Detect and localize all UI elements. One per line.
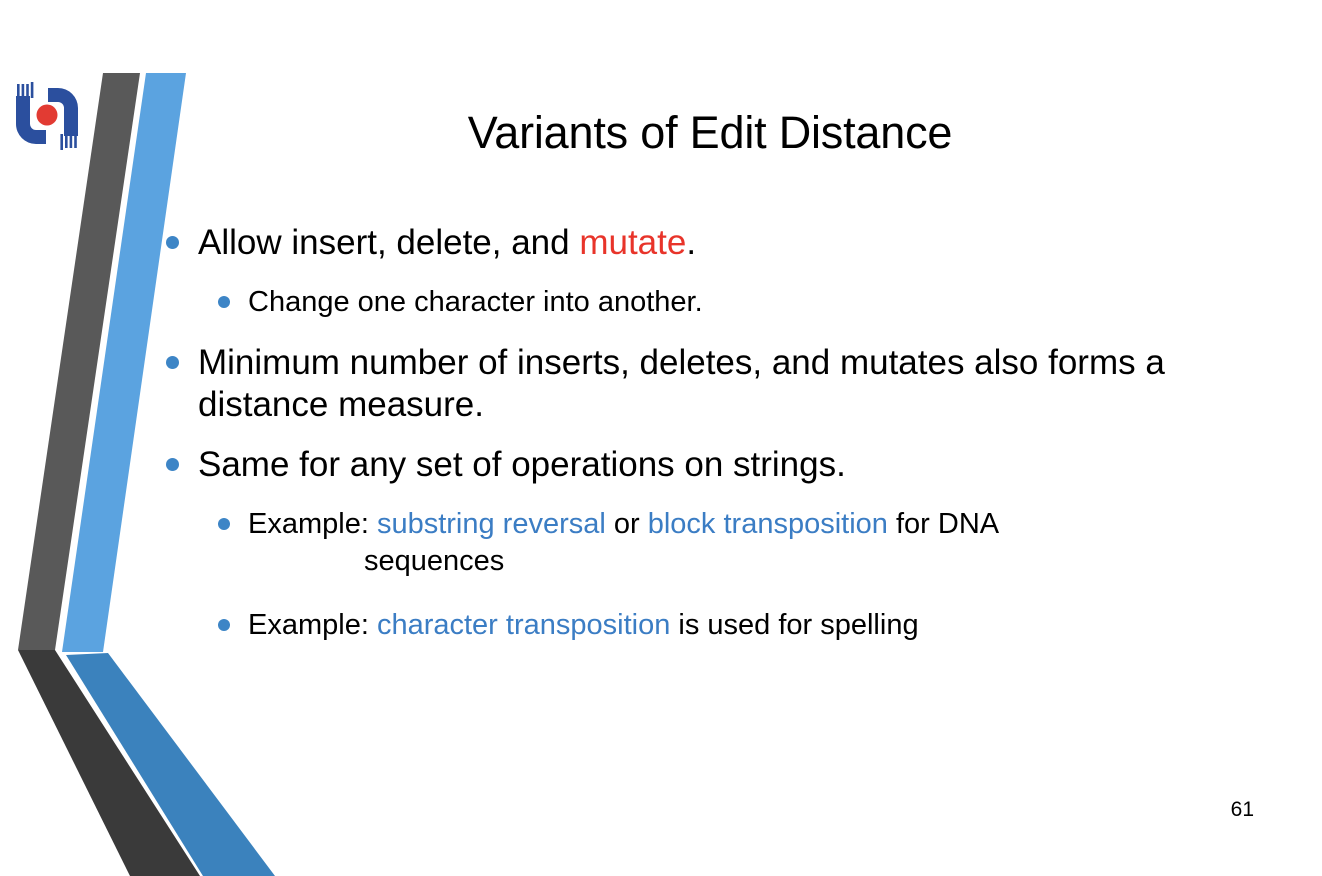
subbullet-text: Change one character into another. (248, 286, 703, 318)
subbullet-text-pre: Example: (248, 508, 377, 540)
institution-logo (8, 78, 86, 152)
ribbon-band-gray-lower (18, 650, 200, 876)
logo-red-dot (37, 105, 58, 126)
slide: Variants of Edit Distance Allow insert, … (0, 0, 1322, 876)
subbullet-continuation-line: sequences (248, 543, 1253, 579)
page-title: Variants of Edit Distance (200, 108, 1220, 158)
subbullet-highlight-substring-reversal: substring reversal (377, 508, 606, 540)
subbullet-change-character: Change one character into another. (163, 284, 1253, 320)
subbullet-highlight-block-transposition: block transposition (648, 508, 888, 540)
slide-body: Allow insert, delete, and mutate. Change… (163, 222, 1253, 650)
bullet-same-for-any-set: Same for any set of operations on string… (163, 444, 1253, 486)
bullet-allow-operations: Allow insert, delete, and mutate. (163, 222, 1253, 264)
subbullet-text-mid: or (606, 508, 648, 540)
subbullet-highlight-character-transposition: character transposition (377, 609, 670, 641)
bullet-dot-icon (166, 458, 179, 471)
subbullet-example-dna: Example: substring reversal or block tra… (163, 506, 1253, 579)
ribbon-band-gray-upper (18, 73, 140, 650)
bullet-text: Minimum number of inserts, deletes, and … (198, 343, 1165, 424)
bullet-dot-icon (218, 619, 230, 631)
bullet-dot-icon (166, 236, 179, 249)
bullet-dot-icon (218, 518, 230, 530)
bullet-text: Same for any set of operations on string… (198, 445, 846, 484)
bullet-dot-icon (218, 296, 230, 308)
bullet-text-highlight-mutate: mutate (579, 223, 686, 262)
bullet-text-pre: Allow insert, delete, and (198, 223, 579, 262)
subbullet-example-spelling: Example: character transposition is used… (163, 607, 1253, 643)
bullet-text-post: . (686, 223, 696, 262)
subbullet-text-post: is used for spelling (670, 609, 918, 641)
subbullet-text-pre: Example: (248, 609, 377, 641)
ribbon-band-blue-lower (66, 653, 275, 876)
page-number: 61 (1231, 798, 1254, 822)
bullet-dot-icon (166, 356, 179, 369)
subbullet-text-post: for DNA (888, 508, 999, 540)
bullet-minimum-number: Minimum number of inserts, deletes, and … (163, 342, 1253, 426)
